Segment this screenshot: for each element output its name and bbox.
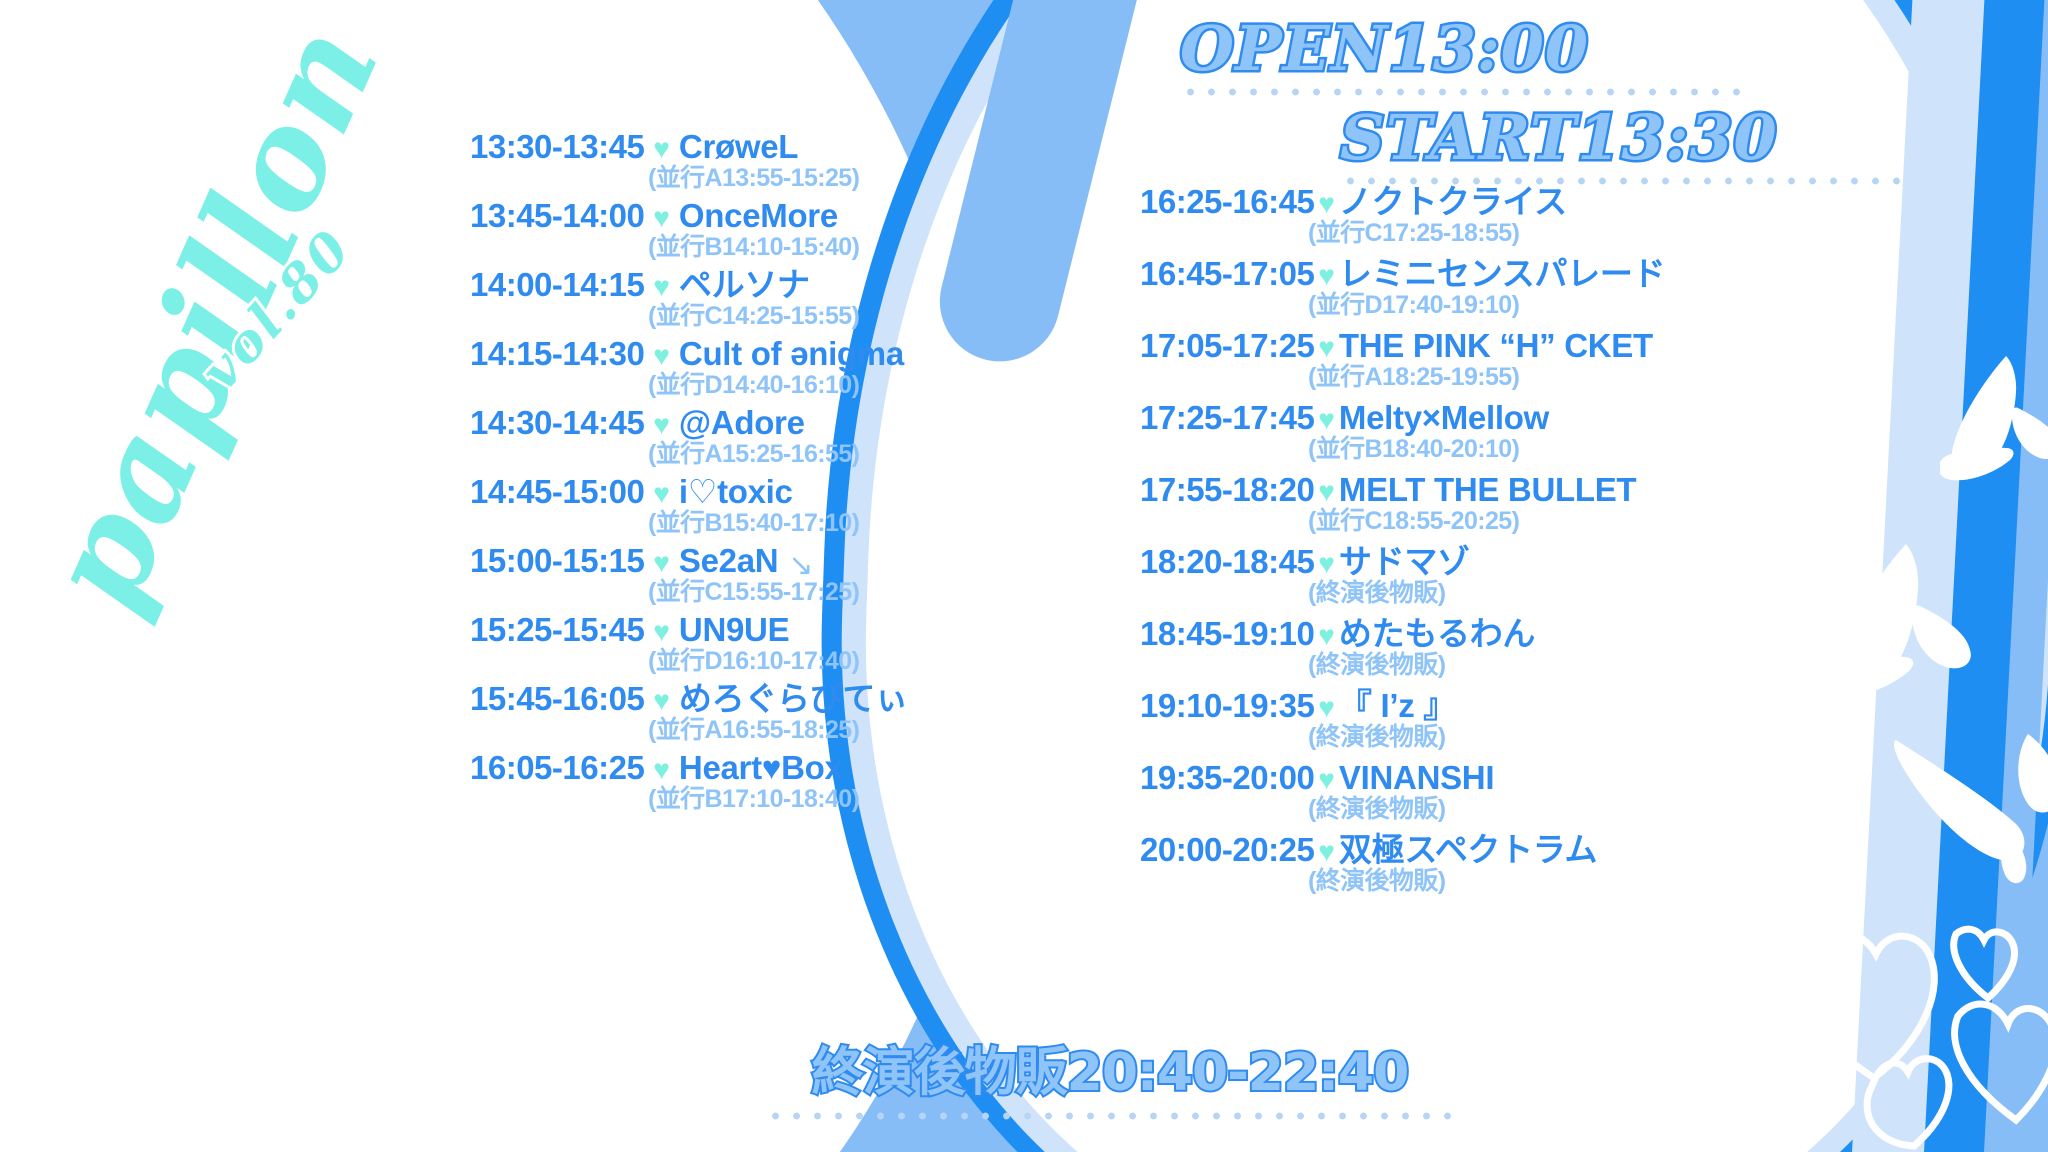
timetable-slot: 16:45-17:05♥レミニセンスパレード(並行D17:40-19:10) <box>1140 257 1760 319</box>
slot-time: 14:30-14:45 <box>470 406 644 441</box>
heart-icon: ♥ <box>1318 190 1335 218</box>
brand-logo: papillon vol.80 <box>16 0 468 654</box>
heart-outline-icon-left <box>8 788 138 898</box>
slot-time: 19:35-20:00 <box>1140 761 1314 796</box>
slot-artist-name: @Adore <box>679 406 805 441</box>
slot-note: (終演後物販) <box>1308 579 1760 607</box>
slot-artist-name: OnceMore <box>679 199 838 234</box>
slot-main-line: 13:45-14:00♥OnceMore <box>470 199 940 234</box>
heart-icon: ♥ <box>1318 766 1335 794</box>
open-time-line: OPEN13:00 <box>1150 16 1910 97</box>
open-time-label: OPEN13:00 <box>1150 16 1910 83</box>
footer-dotted-rule <box>765 1111 1455 1121</box>
slot-note: (終演後物販) <box>1308 651 1760 679</box>
timetable-slot: 19:35-20:00♥VINANSHI(終演後物販) <box>1140 761 1760 823</box>
slot-main-line: 13:30-13:45♥CrøweL <box>470 130 940 165</box>
slot-artist-name: Heart♥Box <box>679 751 843 786</box>
timetable-slot: 20:00-20:25♥双極スペクトラム(終演後物販) <box>1140 833 1760 895</box>
slot-time: 17:55-18:20 <box>1140 473 1314 508</box>
slot-main-line: 14:30-14:45♥@Adore <box>470 406 940 441</box>
slot-main-line: 18:45-19:10♥めたもるわん <box>1140 617 1760 652</box>
heart-icon: ♥ <box>1318 694 1335 722</box>
slot-note: (並行C14:25-15:55) <box>648 302 940 330</box>
timetable-slot: 14:15-14:30♥Cult of ənigma(並行D14:40-16:1… <box>470 337 940 399</box>
heart-icon: ♥ <box>1318 478 1335 506</box>
arrow-down-right-icon: ↘ <box>788 550 813 582</box>
heart-icon: ♥ <box>1318 550 1335 578</box>
slot-main-line: 14:00-14:15♥ペルソナ <box>470 268 940 303</box>
slot-note: (終演後物販) <box>1308 795 1760 823</box>
slot-note: (並行A13:55-15:25) <box>648 164 940 192</box>
slot-artist-name: めたもるわん <box>1339 617 1535 652</box>
event-times-header: OPEN13:00 START13:30 <box>1150 16 1910 194</box>
brand-title: papillon <box>16 2 410 632</box>
poster-root: papillon vol.80 OPEN13:00 START13:30 13:… <box>0 0 2048 1152</box>
slot-note: (並行A15:25-16:55) <box>648 440 940 468</box>
timetable-right-column: 16:25-16:45♥ノクトクライス(並行C17:25-18:55)16:45… <box>1140 185 1760 905</box>
slot-note: (並行B14:10-15:40) <box>648 233 940 261</box>
heart-icon: ♥ <box>653 273 670 301</box>
slot-time: 15:45-16:05 <box>470 682 644 717</box>
heart-icon: ♥ <box>653 411 670 439</box>
slot-time: 15:25-15:45 <box>470 613 644 648</box>
timetable-left-column: 13:30-13:45♥CrøweL(並行A13:55-15:25)13:45-… <box>470 130 940 820</box>
slot-artist-name: レミニセンスパレード <box>1339 257 1665 292</box>
slot-time: 16:45-17:05 <box>1140 257 1314 292</box>
heart-icon: ♥ <box>1318 406 1335 434</box>
timetable-slot: 14:30-14:45♥@Adore(並行A15:25-16:55) <box>470 406 940 468</box>
slot-time: 19:10-19:35 <box>1140 689 1314 724</box>
heart-icon: ♥ <box>653 687 670 715</box>
heart-icon: ♥ <box>1318 838 1335 866</box>
slot-note: (終演後物販) <box>1308 723 1760 751</box>
slot-time: 20:00-20:25 <box>1140 833 1314 868</box>
heart-icon: ♥ <box>653 480 670 508</box>
slot-main-line: 17:25-17:45♥Melty×Mellow <box>1140 401 1760 436</box>
timetable-slot: 17:55-18:20♥MELT THE BULLET(並行C18:55-20:… <box>1140 473 1760 535</box>
slot-artist-name: THE PINK “H” CKET <box>1339 329 1653 364</box>
slot-artist-name: ペルソナ <box>679 268 810 303</box>
slot-time: 16:25-16:45 <box>1140 185 1314 220</box>
slot-time: 17:25-17:45 <box>1140 401 1314 436</box>
heart-icon: ♥ <box>1318 262 1335 290</box>
slot-note: (並行D17:40-19:10) <box>1308 291 1760 319</box>
slot-note: (並行A16:55-18:25) <box>648 716 940 744</box>
timetable-slot: 18:45-19:10♥めたもるわん(終演後物販) <box>1140 617 1760 679</box>
slot-artist-name: めろぐらびてぃ <box>679 682 908 717</box>
timetable-slot: 15:00-15:15♥Se2aN↘(並行C15:55-17:25) <box>470 544 940 606</box>
slot-time: 14:15-14:30 <box>470 337 644 372</box>
timetable-slot: 16:05-16:25♥Heart♥Box(並行B17:10-18:40) <box>470 751 940 813</box>
slot-main-line: 14:15-14:30♥Cult of ənigma <box>470 337 940 372</box>
heart-icon: ♥ <box>653 204 670 232</box>
heart-icon: ♥ <box>653 342 670 370</box>
slot-note: (並行C15:55-17:25) <box>648 578 940 606</box>
slot-time: 15:00-15:15 <box>470 544 644 579</box>
slot-time: 16:05-16:25 <box>470 751 644 786</box>
slot-artist-name: Cult of ənigma <box>679 337 904 372</box>
slot-note: (並行C18:55-20:25) <box>1308 507 1760 535</box>
slot-main-line: 18:20-18:45♥サドマゾ <box>1140 545 1760 580</box>
heart-icon: ♥ <box>1318 334 1335 362</box>
slot-main-line: 16:05-16:25♥Heart♥Box <box>470 751 940 786</box>
heart-icon: ♥ <box>653 135 670 163</box>
slot-artist-name: Melty×Mellow <box>1339 401 1549 436</box>
slot-time: 14:00-14:15 <box>470 268 644 303</box>
heart-icon: ♥ <box>653 756 670 784</box>
slot-artist-name: CrøweL <box>679 130 798 165</box>
post-show-merch-label: 終演後物販20:40-22:40 <box>760 1030 1460 1105</box>
start-time-line: START13:30 <box>1150 105 1910 186</box>
timetable-slot: 15:25-15:45♥UN9UE(並行D16:10-17:40) <box>470 613 940 675</box>
timetable-slot: 19:10-19:35♥『 I’z 』(終演後物販) <box>1140 689 1760 751</box>
slot-artist-name: MELT THE BULLET <box>1339 473 1636 508</box>
slot-note: (終演後物販) <box>1308 867 1760 895</box>
post-show-merch-footer: 終演後物販20:40-22:40 <box>760 1030 1460 1121</box>
slot-artist-name: Se2aN <box>679 544 778 579</box>
slot-artist-name: サドマゾ <box>1339 545 1470 580</box>
start-time-label: START13:30 <box>1150 105 1910 172</box>
slot-main-line: 15:25-15:45♥UN9UE <box>470 613 940 648</box>
slot-note: (並行B17:10-18:40) <box>648 785 940 813</box>
slot-time: 17:05-17:25 <box>1140 329 1314 364</box>
slot-artist-name: 『 I’z 』 <box>1339 689 1456 724</box>
timetable-slot: 17:05-17:25♥THE PINK “H” CKET(並行A18:25-1… <box>1140 329 1760 391</box>
slot-main-line: 15:45-16:05♥めろぐらびてぃ <box>470 682 940 717</box>
timetable-slot: 15:45-16:05♥めろぐらびてぃ(並行A16:55-18:25) <box>470 682 940 744</box>
slot-main-line: 19:35-20:00♥VINANSHI <box>1140 761 1760 796</box>
heart-icon: ♥ <box>653 618 670 646</box>
slot-note: (並行D16:10-17:40) <box>648 647 940 675</box>
slot-note: (並行B18:40-20:10) <box>1308 435 1760 463</box>
slot-time: 14:45-15:00 <box>470 475 644 510</box>
slot-main-line: 16:45-17:05♥レミニセンスパレード <box>1140 257 1760 292</box>
slot-main-line: 20:00-20:25♥双極スペクトラム <box>1140 833 1760 868</box>
open-dotted-rule <box>1180 87 1740 97</box>
slot-main-line: 17:05-17:25♥THE PINK “H” CKET <box>1140 329 1760 364</box>
slot-note: (並行A18:25-19:55) <box>1308 363 1760 391</box>
timetable-slot: 17:25-17:45♥Melty×Mellow(並行B18:40-20:10) <box>1140 401 1760 463</box>
timetable-slot: 14:00-14:15♥ペルソナ(並行C14:25-15:55) <box>470 268 940 330</box>
slot-artist-name: UN9UE <box>679 613 789 648</box>
slot-artist-name: i♡toxic <box>679 475 793 510</box>
slot-note: (並行B15:40-17:10) <box>648 509 940 537</box>
heart-icon: ♥ <box>653 549 670 577</box>
slot-time: 13:30-13:45 <box>470 130 644 165</box>
timetable-slot: 13:30-13:45♥CrøweL(並行A13:55-15:25) <box>470 130 940 192</box>
slot-artist-name: VINANSHI <box>1339 761 1494 796</box>
slot-main-line: 14:45-15:00♥i♡toxic <box>470 475 940 510</box>
slot-time: 13:45-14:00 <box>470 199 644 234</box>
slot-artist-name: 双極スペクトラム <box>1339 833 1597 868</box>
slot-main-line: 17:55-18:20♥MELT THE BULLET <box>1140 473 1760 508</box>
timetable-slot: 16:25-16:45♥ノクトクライス(並行C17:25-18:55) <box>1140 185 1760 247</box>
timetable-slot: 14:45-15:00♥i♡toxic(並行B15:40-17:10) <box>470 475 940 537</box>
timetable-slot: 13:45-14:00♥OnceMore(並行B14:10-15:40) <box>470 199 940 261</box>
timetable-slot: 18:20-18:45♥サドマゾ(終演後物販) <box>1140 545 1760 607</box>
slot-main-line: 19:10-19:35♥『 I’z 』 <box>1140 689 1760 724</box>
slot-note: (並行D14:40-16:10) <box>648 371 940 399</box>
slot-time: 18:45-19:10 <box>1140 617 1314 652</box>
slot-main-line: 15:00-15:15♥Se2aN↘ <box>470 544 940 579</box>
slot-main-line: 16:25-16:45♥ノクトクライス <box>1140 185 1760 220</box>
butterfly-icon-bottom-left <box>0 630 390 1050</box>
slot-note: (並行C17:25-18:55) <box>1308 219 1760 247</box>
slot-time: 18:20-18:45 <box>1140 545 1314 580</box>
heart-icon: ♥ <box>1318 622 1335 650</box>
slot-artist-name: ノクトクライス <box>1339 185 1567 220</box>
